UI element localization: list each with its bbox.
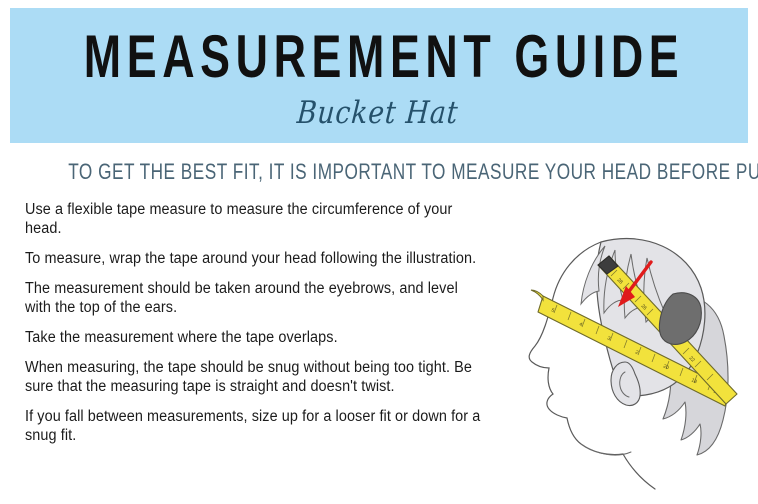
instruction-item: The measurement should be taken around t…	[25, 279, 485, 317]
instruction-item: If you fall between measurements, size u…	[25, 407, 485, 445]
product-subtitle: Bucket Hat	[59, 96, 696, 130]
instruction-item: Take the measurement where the tape over…	[25, 328, 485, 347]
tape-tail	[531, 290, 543, 300]
instruction-item: When measuring, the tape should be snug …	[25, 358, 485, 396]
instruction-list: Use a flexible tape measure to measure t…	[25, 200, 520, 456]
instruction-item: Use a flexible tape measure to measure t…	[25, 200, 485, 238]
page-title: MEASUREMENT GUIDE	[84, 26, 674, 86]
lead-instruction-line: TO GET THE BEST FIT, IT IS IMPORTANT TO …	[68, 160, 690, 185]
head-measurement-illustration: 5 4 3 2 20 18 16	[505, 212, 758, 504]
header-band: MEASUREMENT GUIDE Bucket Hat	[10, 8, 748, 143]
instruction-item: To measure, wrap the tape around your he…	[25, 249, 485, 268]
jaw-line	[581, 444, 631, 455]
